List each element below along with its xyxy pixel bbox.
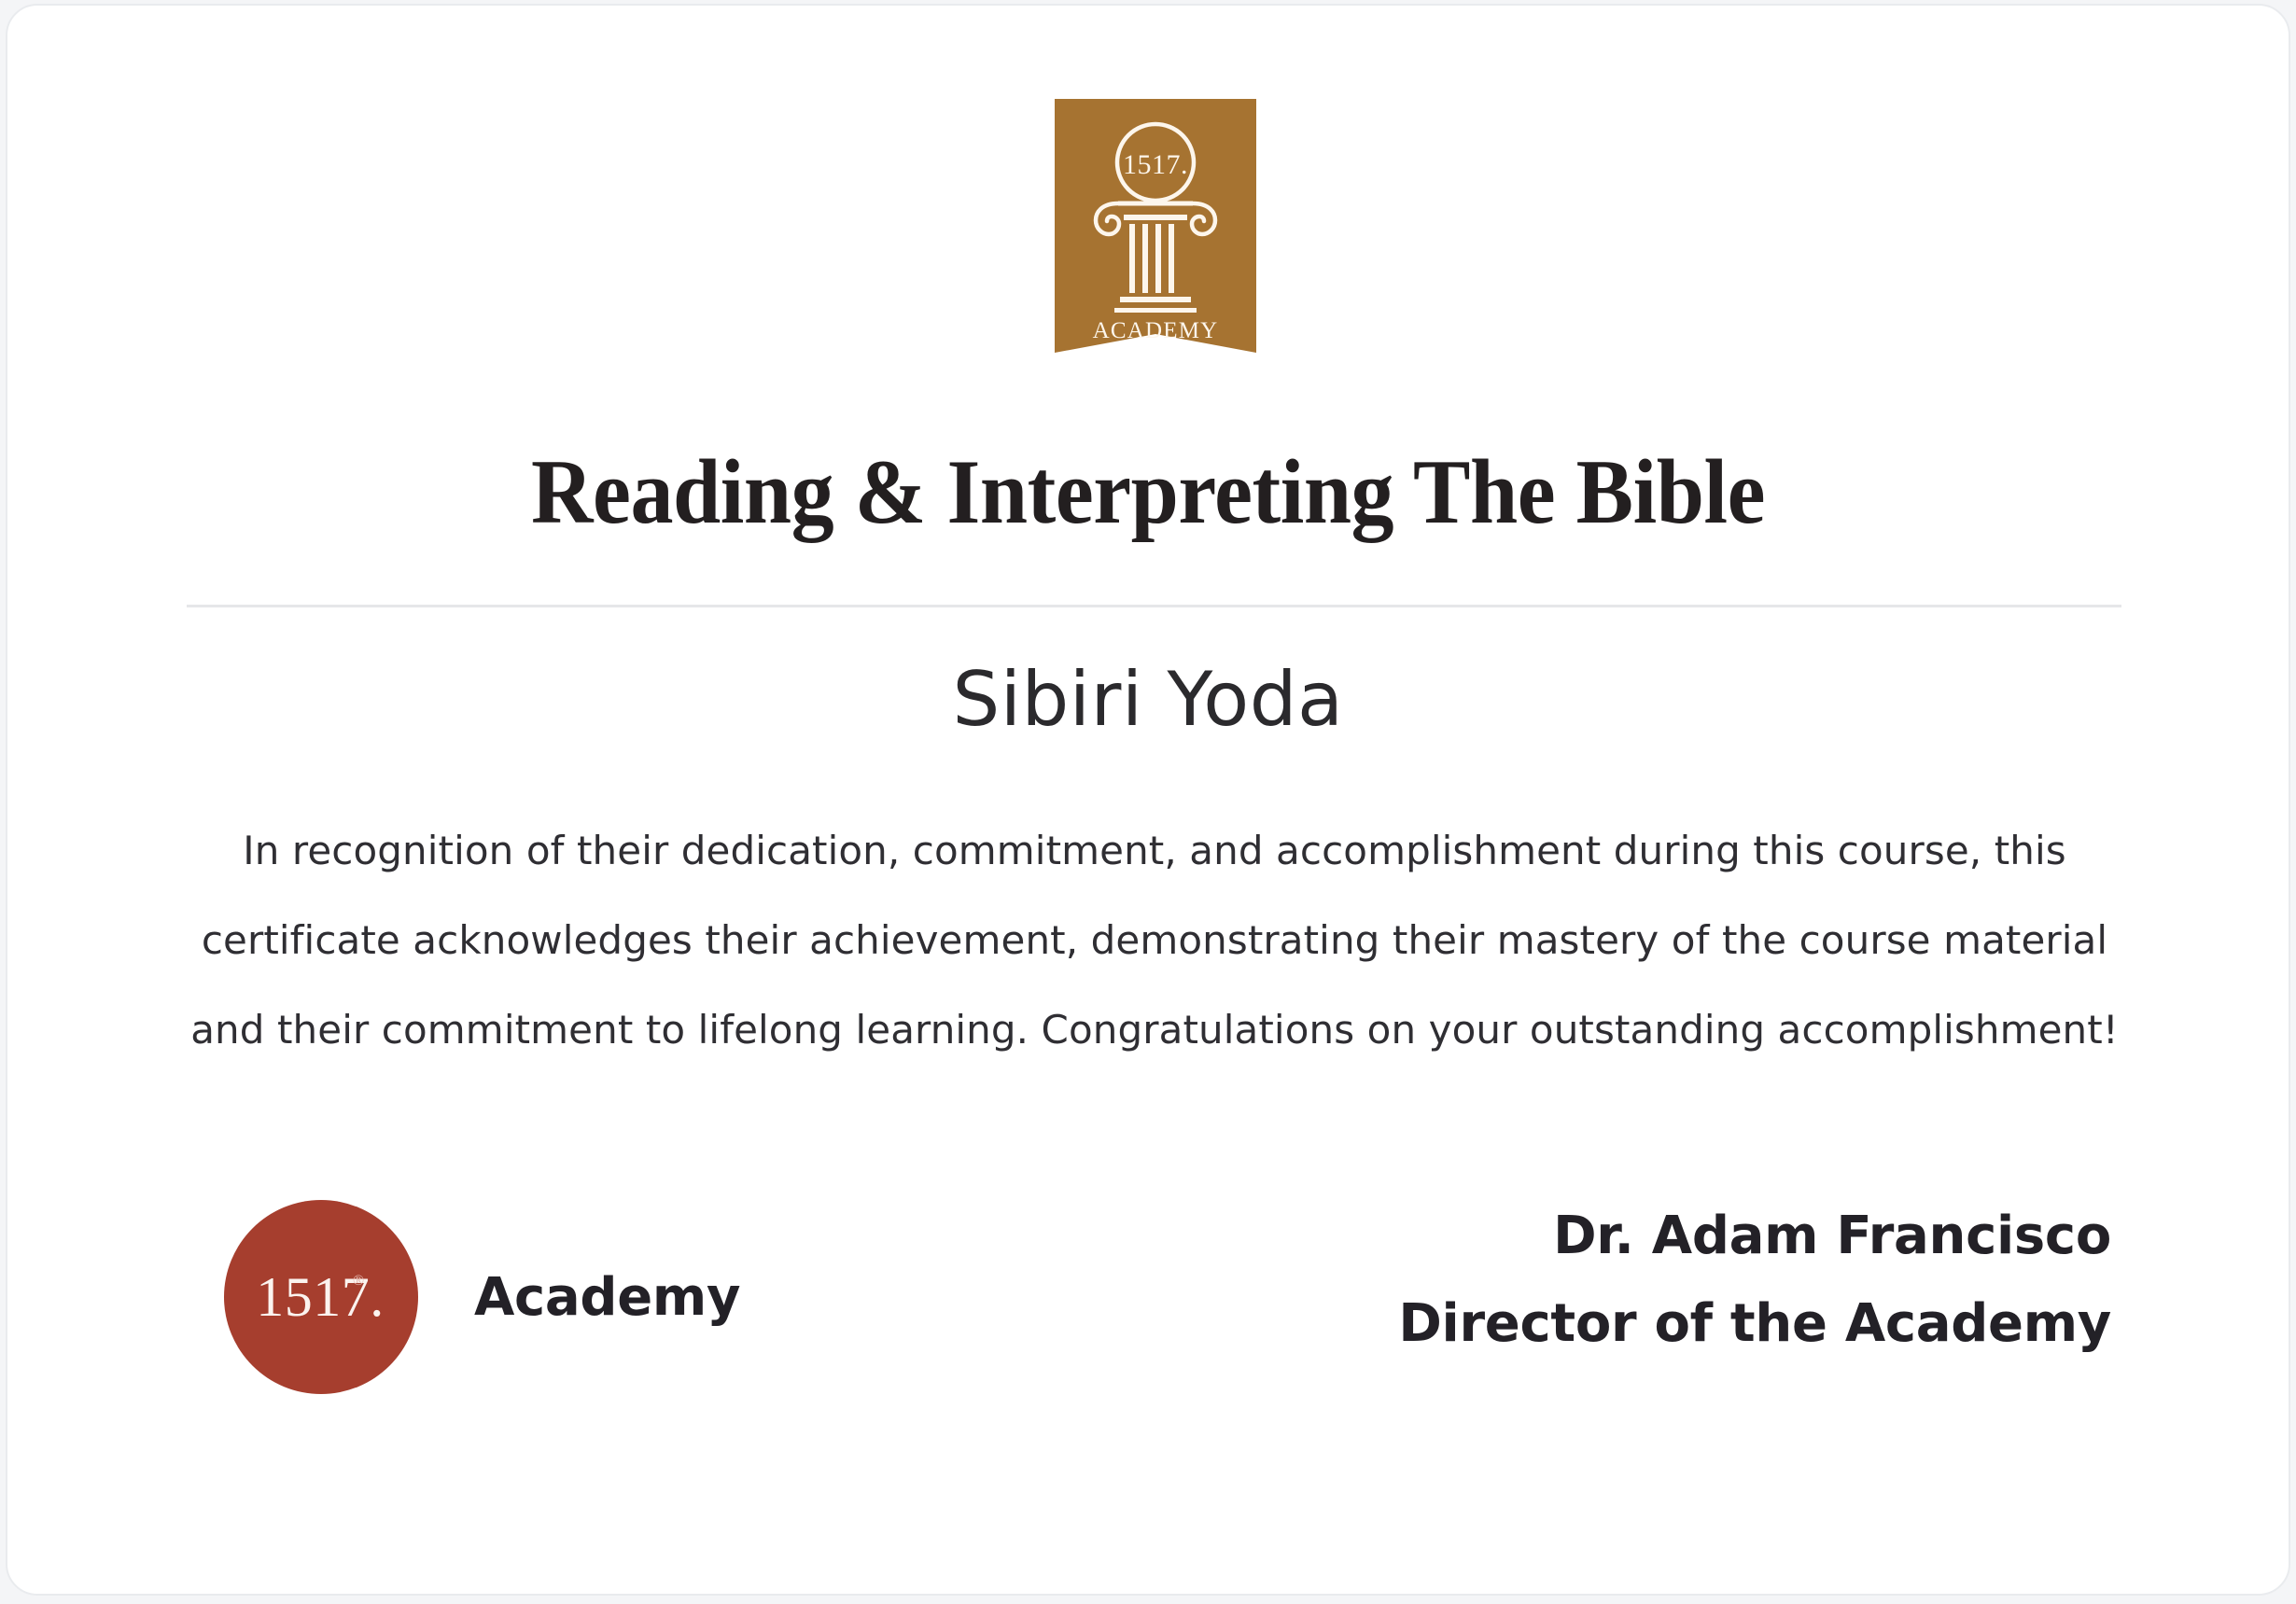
issuer-group: 1517. ® Academy	[224, 1200, 740, 1394]
signatory-title: Director of the Academy	[1398, 1280, 2111, 1368]
registered-trademark-mark: ®	[353, 1273, 364, 1290]
signature-block: Dr. Adam Francisco Director of the Acade…	[1398, 1193, 2111, 1368]
signatory-name: Dr. Adam Francisco	[1398, 1193, 2111, 1280]
issuer-label: Academy	[474, 1267, 740, 1328]
academy-banner-logo: 1517. ACADEMY	[1055, 99, 1256, 353]
certificate-footer: 1517. ® Academy Dr. Adam Francisco Direc…	[7, 1193, 2289, 1407]
svg-text:1517.: 1517.	[1123, 149, 1188, 180]
page-title: Reading & Interpreting The Bible	[88, 439, 2209, 547]
seal-year-label: 1517.	[224, 1200, 418, 1394]
recipient-name: Sibiri Yoda	[7, 653, 2289, 746]
1517-round-seal-icon: 1517. ®	[224, 1200, 418, 1394]
1517-academy-banner-logo-graphic: 1517. ACADEMY	[1055, 99, 1256, 353]
certificate-body-text: In recognition of their dedication, comm…	[175, 806, 2134, 1075]
svg-text:ACADEMY: ACADEMY	[1093, 318, 1219, 343]
title-divider	[187, 605, 2121, 607]
certificate-card: 1517. ACADEMY Reading & Interpreting The…	[6, 4, 2290, 1596]
